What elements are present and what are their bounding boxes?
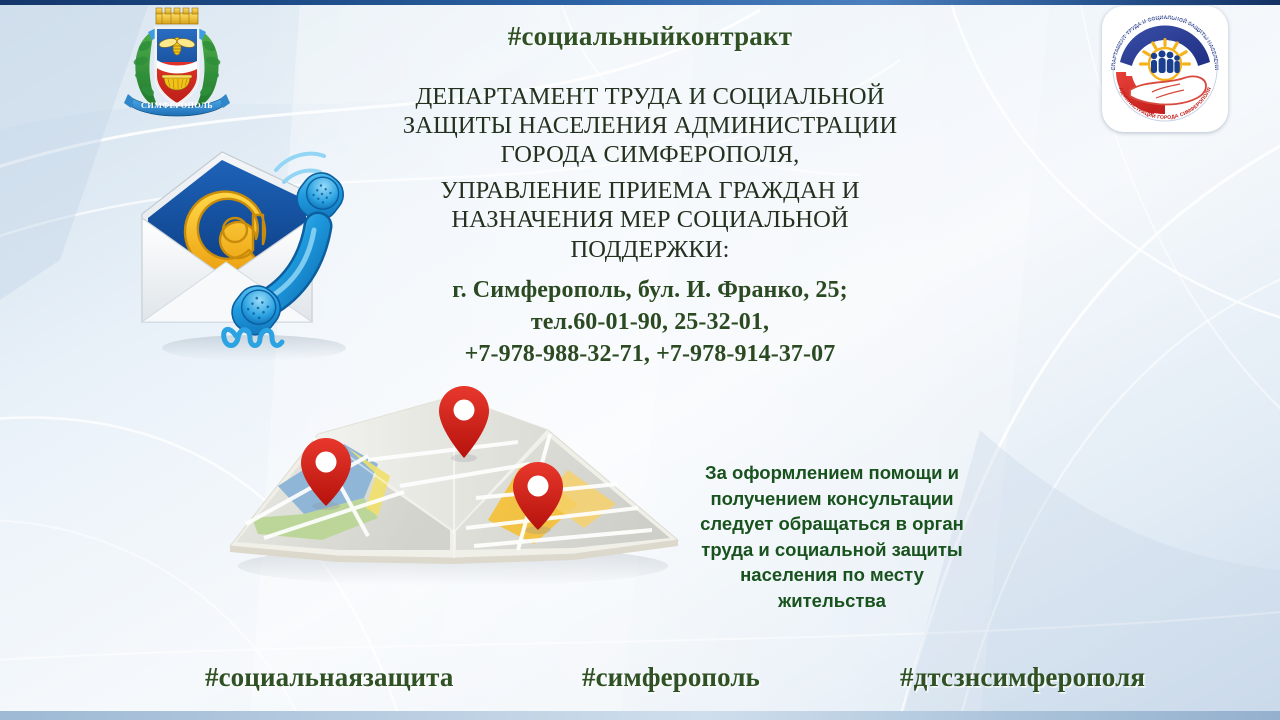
unit-title: УПРАВЛЕНИЕ ПРИЕМА ГРАЖДАН И НАЗНАЧЕНИЯ М… [372,176,928,264]
advice-line-3: следует обращаться в орган [682,511,982,537]
contact-block: г. Симферополь, бул. И. Франко, 25; тел.… [372,274,928,370]
map-illustration [218,378,688,623]
advice-line-2: получением консультации [682,486,982,512]
department-logo: ДЕПАРТАМЕНТ ТРУДА И СОЦИАЛЬНОЙ ЗАЩИТЫ НА… [1102,6,1228,132]
organization-title-line-2: ЗАЩИТЫ НАСЕЛЕНИЯ АДМИНИСТРАЦИИ [372,111,928,140]
advice-line-1: За оформлением помощи и [682,460,982,486]
advice-line-6: жительства [682,588,982,614]
bottom-accent-rule [0,711,1280,720]
advice-paragraph: За оформлением помощи и получением консу… [682,460,982,613]
unit-title-line-3: ПОДДЕРЖКИ: [372,235,928,264]
coat-of-arms-ribbon-text: СИМФЕРОПОЛЬ [141,101,213,110]
contact-mobile-phones: +7-978-988-32-71, +7-978-914-37-07 [372,338,928,370]
coat-of-arms-icon: СИМФЕРОПОЛЬ [118,6,236,128]
presentation-slide: СИМФЕРОПОЛЬ [0,0,1280,720]
organization-title-line-3: ГОРОДА СИМФЕРОПОЛЯ, [372,140,928,169]
unit-title-line-1: УПРАВЛЕНИЕ ПРИЕМА ГРАЖДАН И [372,176,928,205]
contact-address: г. Симферополь, бул. И. Франко, 25; [372,274,928,306]
email-phone-illustration [126,122,376,370]
hashtag-dtszn-simferopol: #дтсзнсимферополя [900,662,1145,693]
unit-title-line-2: НАЗНАЧЕНИЯ МЕР СОЦИАЛЬНОЙ [372,205,928,234]
advice-line-5: населения по месту [682,562,982,588]
advice-line-4: труда и социальной защиты [682,537,982,563]
organization-title-line-1: ДЕПАРТАМЕНТ ТРУДА И СОЦИАЛЬНОЙ [372,82,928,111]
organization-title: ДЕПАРТАМЕНТ ТРУДА И СОЦИАЛЬНОЙ ЗАЩИТЫ НА… [372,82,928,170]
bottom-hashtag-row: #социальнаязащита #симферополь #дтсзнсим… [0,662,1280,702]
main-text-column: #социальныйконтракт ДЕПАРТАМЕНТ ТРУДА И … [372,22,928,371]
hashtag-simferopol: #симферополь [582,662,760,693]
hashtag-social-contract: #социальныйконтракт [372,22,928,52]
hashtag-social-protection: #социальнаязащита [205,662,453,693]
contact-landline-phones: тел.60-01-90, 25-32-01, [372,306,928,338]
top-accent-rule [0,0,1280,5]
